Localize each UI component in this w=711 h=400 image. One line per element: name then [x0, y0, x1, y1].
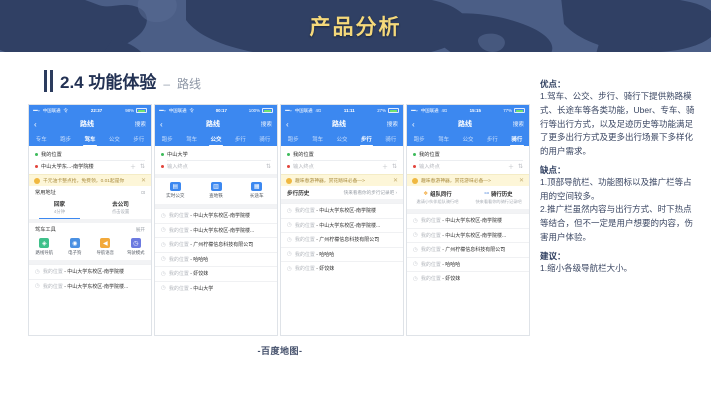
history-from: 我的位置 [421, 262, 441, 268]
clock-history-icon: ◷ [287, 208, 292, 214]
signal-dots-icon: ••••∘ [159, 108, 166, 114]
table-row[interactable]: ◷ 我的位置 - 虾饺妹 [407, 271, 529, 286]
feature-sub: 邀请小伙伴组队骑行吧 [417, 199, 459, 205]
history-from: 我的位置 [169, 228, 189, 234]
tab-jiache[interactable]: 驾车 [431, 132, 455, 146]
carrier-label: 中国联通 [169, 108, 187, 114]
table-row[interactable]: ◷ 我的位置 - 中山大学东校区-南学院楼... [29, 279, 151, 294]
suggestions-heading: 建议： [540, 250, 700, 262]
cons-heading: 缺点： [540, 164, 700, 176]
tab-jiache[interactable]: 驾车 [78, 132, 102, 146]
history-from: 我的位置 [421, 233, 441, 239]
history-from: 我的位置 [169, 286, 189, 292]
quick-address-header: 常用地址 ⊡ [29, 186, 151, 198]
wifi-icon: 令 [189, 108, 193, 114]
promo-text: 趣味春游神器，赏花游味必备—> [421, 177, 516, 184]
route-search-card: 我的位置 中山大学东...-南学院楼 ＋ ⇅ [29, 146, 151, 174]
status-bar: ••••∘ 中国联通 令 22:37 98% [29, 105, 151, 116]
clock-history-icon: ◷ [413, 232, 418, 238]
history-to: 哈哈哈 [319, 252, 334, 258]
navigation-icon: ◈ [39, 238, 49, 248]
tab-gongjiao[interactable]: 公交 [102, 132, 126, 146]
end-point-row[interactable]: 输入终点 ＋ ⇅ [287, 161, 397, 172]
feature-sub: 快来看看你的骑行记录吧 [475, 199, 521, 205]
history-to: 中山大学东校区-南学院楼 [319, 208, 376, 214]
section-heading: 2.4 功能体验 – 路线 [44, 68, 201, 93]
tab-gongjiao[interactable]: 公交 [330, 132, 354, 146]
route-search-card: 我的位置 输入终点 ＋ ⇅ [407, 146, 529, 174]
signal-dots-icon: ••••∘ [285, 108, 292, 114]
history-from: 我的位置 [295, 266, 315, 272]
status-right-group: 27% [377, 108, 399, 113]
table-row[interactable]: ◷ 我的位置 - 中山大学东校区-南学院楼... [407, 228, 529, 243]
table-row[interactable]: ◷ 我的位置 - 虾饺妹 [155, 266, 277, 281]
search-action-icons: ⇅ [266, 163, 271, 170]
table-row[interactable]: ◷ 我的位置 - 哈哈哈 [407, 257, 529, 272]
clock-history-icon: ◷ [35, 283, 40, 289]
clock-history-icon: ◷ [161, 285, 166, 291]
start-point-row[interactable]: 我的位置 [413, 149, 523, 160]
tab-jiache[interactable]: 驾车 [179, 132, 203, 146]
status-bar: ••••∘ 中国联通 4G 11:11 27% [281, 105, 403, 116]
battery-icon [262, 108, 273, 113]
tab-jiache[interactable]: 驾车 [305, 132, 329, 146]
cons-item-1: 1.顶部导航栏、功能图标以及推广栏等占用的空间较多。 [540, 176, 700, 204]
swap-icon[interactable]: ⇅ [392, 163, 397, 170]
coach-icon: ▦ [251, 182, 262, 191]
tool-route-navigation[interactable]: ◈ 路线导航 [29, 238, 60, 256]
carrier-label: 中国联通 [295, 108, 313, 114]
clock-history-icon: ◷ [161, 256, 166, 262]
table-row[interactable]: ◷ 我的位置 - 中山大学东校区-南学院楼 [407, 213, 529, 228]
phone-screenshot-row: ••••∘ 中国联通 令 22:37 98% ‹ 路线 搜索 专车 跑步 驾车 … [28, 104, 530, 336]
slide-root: 产品分析 2.4 功能体验 – 路线 ••••∘ 中国联通 令 22:37 98… [0, 0, 711, 400]
clock-label: 00:17 [197, 108, 246, 113]
nav-bar: ‹ 路线 搜索 [281, 116, 403, 132]
history-text: 我的位置 - 中山大学东校区-南学院楼 [421, 217, 502, 224]
home-sub: 4分钟 [29, 209, 90, 215]
table-row[interactable]: ◷ 我的位置 - 哈哈哈 [155, 252, 277, 267]
start-dot-icon [413, 153, 416, 156]
status-right-group: 98% [125, 108, 147, 113]
radar-icon: ◉ [70, 238, 80, 248]
route-history-list: ◷ 我的位置 - 中山大学东校区-南学院楼 ◷ 我的位置 - 中山大学东校区-南… [155, 208, 277, 335]
title-bars-icon [44, 70, 53, 92]
driving-tools-title: 驾车工具 [35, 226, 56, 233]
battery-percent-label: 100% [249, 108, 260, 113]
battery-percent-label: 77% [503, 108, 512, 113]
transport-tab-bar: 跑步 驾车 公交 步行 骑行 [281, 132, 403, 146]
phone-screenshot-2: ••••∘ 中国联通 令 00:17 100% ‹ 路线 搜索 跑步 驾车 公交… [154, 104, 278, 336]
transport-tab-bar: 跑步 驾车 公交 步行 骑行 [155, 132, 277, 146]
expand-button[interactable]: 展开 [136, 227, 145, 233]
end-dot-icon [413, 165, 416, 168]
promo-banner[interactable]: 千元油卡整点抢，免费领，0.01起是你 ✕ [29, 174, 151, 186]
search-button[interactable]: 搜索 [124, 120, 146, 128]
back-button[interactable]: ‹ [412, 120, 428, 129]
search-action-icons: ＋ ⇅ [130, 162, 145, 171]
route-history-list: ◷ 我的位置 - 中山大学东校区-南学院楼 ◷ 我的位置 - 中山大学东校区-南… [29, 264, 151, 335]
history-from: 我的位置 [295, 252, 315, 258]
carrier-label: 中国联通 [421, 108, 439, 114]
clock-history-icon: ◷ [287, 237, 292, 243]
end-point-row[interactable]: 中山大学东...-南学院楼 ＋ ⇅ [35, 161, 145, 172]
battery-icon [514, 108, 525, 113]
start-point-row[interactable]: 我的位置 [35, 149, 145, 160]
tool-label: 驾驶模式 [127, 250, 145, 256]
tool-driving-mode[interactable]: ◷ 驾驶模式 [121, 238, 152, 256]
add-waypoint-icon[interactable]: ＋ [508, 162, 514, 171]
promo-text: 千元油卡整点抢，免费领，0.01起是你 [43, 177, 138, 184]
table-row[interactable]: ◷ 我的位置 - 广州柠檬信息科技有限公司 [155, 237, 277, 252]
history-from: 我的位置 [421, 276, 441, 282]
battery-icon [136, 108, 147, 113]
clock-history-icon: ◷ [161, 227, 166, 233]
end-point-row[interactable]: 输入终点 ⇅ [161, 161, 271, 172]
end-input[interactable]: 输入终点 [419, 163, 505, 170]
signal-dots-icon: ••••∘ [411, 108, 418, 114]
transport-tab-bar: 专车 跑步 驾车 公交 步行 [29, 132, 151, 146]
tab-qixing[interactable]: 骑行 [505, 132, 529, 146]
table-row[interactable]: ◷ 我的位置 - 中山大学东校区-南学院楼 [29, 264, 151, 279]
table-row[interactable]: ◷ 我的位置 - 中山大学东校区-南学院楼... [281, 218, 403, 233]
tab-paobu[interactable]: 跑步 [53, 132, 77, 146]
page-title: 路线 [302, 119, 376, 129]
clock-history-icon: ◷ [161, 213, 166, 219]
history-from: 我的位置 [295, 237, 315, 243]
history-to: 中山大学东校区-南学院楼... [193, 228, 254, 234]
history-text: 我的位置 - 中山大学东校区-南学院楼 [169, 212, 250, 219]
history-from: 我的位置 [169, 271, 189, 277]
tab-buxing[interactable]: 步行 [480, 132, 504, 146]
start-point-row[interactable]: 我的位置 [287, 149, 397, 160]
swap-icon[interactable]: ⇅ [266, 163, 271, 170]
history-to: 中山大学东校区-南学院楼... [67, 284, 128, 290]
table-row[interactable]: ◷ 我的位置 - 中山大学东校区-南学院楼... [155, 223, 277, 238]
nav-bar: ‹ 路线 搜索 [407, 116, 529, 132]
history-text: 我的位置 - 哈哈哈 [421, 261, 460, 268]
phone-screenshot-4: ••••∘ 中国联通 4G 15:15 77% ‹ 路线 搜索 跑步 驾车 公交… [406, 104, 530, 336]
clock-history-icon: ◷ [161, 271, 166, 277]
tab-gongjiao[interactable]: 公交 [456, 132, 480, 146]
history-to: 虾饺妹 [445, 276, 460, 282]
history-text: 我的位置 - 中山大学东校区-南学院楼... [295, 222, 380, 229]
shortcut-label: 实时公交 [166, 193, 184, 199]
tab-buxing[interactable]: 步行 [354, 132, 378, 146]
history-to: 中山大学东校区-南学院楼 [67, 269, 124, 275]
history-text: 我的位置 - 广州柠檬信息科技有限公司 [169, 241, 253, 248]
history-to: 广州柠檬信息科技有限公司 [445, 247, 505, 253]
history-from: 我的位置 [43, 269, 63, 275]
search-action-icons: ＋ ⇅ [382, 162, 397, 171]
phone-screenshot-3: ••••∘ 中国联通 4G 11:11 27% ‹ 路线 搜索 跑步 驾车 公交… [280, 104, 404, 336]
table-row[interactable]: ◷ 我的位置 - 中山大学东校区-南学院楼 [281, 203, 403, 218]
history-from: 我的位置 [169, 242, 189, 248]
company-sub: 点击设置 [90, 209, 151, 215]
history-text: 我的位置 - 虾饺妹 [295, 265, 334, 272]
walk-history-link[interactable]: 快来看看你的步行记录吧 › [344, 190, 397, 196]
history-text: 我的位置 - 哈哈哈 [295, 251, 334, 258]
tab-paobu[interactable]: 跑步 [281, 132, 305, 146]
add-waypoint-icon[interactable]: ＋ [382, 162, 388, 171]
cons-item-2: 2.推广栏虽然内容与出行方式、时下热点等结合，但不一定是用户想要的内容，伤害用户… [540, 203, 700, 244]
table-row[interactable]: ◷ 我的位置 - 中山大学东校区-南学院楼 [155, 208, 277, 223]
start-input[interactable]: 我的位置 [293, 151, 397, 158]
table-row[interactable]: ◷ 我的位置 - 广州柠檬信息科技有限公司 [281, 232, 403, 247]
slide-title: 产品分析 [0, 0, 711, 52]
history-text: 我的位置 - 广州柠檬信息科技有限公司 [421, 246, 505, 253]
end-input[interactable]: 输入终点 [293, 163, 379, 170]
start-dot-icon [161, 153, 164, 156]
end-input[interactable]: 输入终点 [167, 163, 263, 170]
nav-bar: ‹ 路线 搜索 [29, 116, 151, 132]
team-icon: ❖ [423, 191, 428, 197]
search-button[interactable]: 搜索 [376, 120, 398, 128]
history-to: 中山大学东校区-南学院楼 [445, 218, 502, 224]
feature-title: 组队同行 [430, 190, 452, 198]
promo-banner[interactable]: 趣味春游神器，赏花踏味必备—> ✕ [281, 174, 403, 186]
feature-title-row: ❖ 组队同行 [423, 190, 451, 198]
history-text: 我的位置 - 中山大学东校区-南学院楼... [169, 227, 254, 234]
close-icon[interactable]: ✕ [141, 177, 146, 184]
history-from: 我的位置 [295, 208, 315, 214]
tab-buxing[interactable]: 步行 [127, 132, 151, 146]
carrier-label: 中国联通 [43, 108, 61, 114]
history-text: 我的位置 - 中山大学东校区-南学院楼 [43, 268, 124, 275]
history-to: 中山大学东校区-南学院楼 [193, 213, 250, 219]
start-input[interactable]: 中山大学 [167, 151, 271, 158]
search-button[interactable]: 搜索 [502, 120, 524, 128]
promo-icon [34, 178, 40, 184]
slide-header-banner: 产品分析 [0, 0, 711, 52]
history-to: 虾饺妹 [193, 271, 208, 277]
feature-title: 骑行历史 [491, 190, 513, 198]
history-to: 哈哈哈 [445, 262, 460, 268]
wifi-icon: 令 [63, 108, 67, 114]
status-right-group: 100% [249, 108, 273, 113]
promo-banner[interactable]: 趣味春游神器，赏花游味必备—> ✕ [407, 174, 529, 186]
speaker-icon: ◀ [100, 238, 110, 248]
history-text: 我的位置 - 哈哈哈 [169, 256, 208, 263]
clock-history-icon: ◷ [413, 261, 418, 267]
network-type-label: 4G [315, 108, 321, 113]
transport-tab-bar: 跑步 驾车 公交 步行 骑行 [407, 132, 529, 146]
history-from: 我的位置 [43, 284, 63, 290]
close-icon[interactable]: ✕ [393, 177, 398, 184]
promo-icon [286, 178, 292, 184]
suggestion-item-1: 1.缩小各级导航栏大小。 [540, 262, 700, 276]
end-dot-icon [161, 165, 164, 168]
end-point-row[interactable]: 输入终点 ＋ ⇅ [413, 161, 523, 172]
clock-history-icon: ◷ [413, 247, 418, 253]
history-to: 中山大学 [193, 286, 213, 292]
search-button[interactable]: 搜索 [250, 120, 272, 128]
search-action-icons: ＋ ⇅ [508, 162, 523, 171]
status-right-group: 77% [503, 108, 525, 113]
history-to: 广州柠檬信息科技有限公司 [193, 242, 253, 248]
route-search-card: 我的位置 输入终点 ＋ ⇅ [281, 146, 403, 174]
route-search-card: 中山大学 输入终点 ⇅ [155, 146, 277, 174]
battery-icon [388, 108, 399, 113]
end-dot-icon [35, 165, 38, 168]
swap-icon[interactable]: ⇅ [140, 163, 145, 170]
tab-zhuanche[interactable]: 专车 [29, 132, 53, 146]
shortcut-coach[interactable]: ▦ 长途车 [236, 182, 277, 199]
home-label: 回家 [29, 200, 90, 208]
section-dash: – [163, 77, 170, 91]
driving-tools-header: 驾车工具 展开 [29, 223, 151, 235]
history-from: 我的位置 [169, 257, 189, 263]
battery-percent-label: 98% [125, 108, 134, 113]
page-title: 路线 [428, 119, 502, 129]
history-text: 我的位置 - 中山大学 [169, 285, 213, 292]
tab-buxing[interactable]: 步行 [228, 132, 252, 146]
close-icon[interactable]: ✕ [519, 177, 524, 184]
clock-icon: ◷ [131, 238, 141, 248]
phone-screenshot-1: ••••∘ 中国联通 令 22:37 98% ‹ 路线 搜索 专车 跑步 驾车 … [28, 104, 152, 336]
history-text: 我的位置 - 广州柠檬信息科技有限公司 [295, 236, 379, 243]
tab-qixing[interactable]: 骑行 [253, 132, 277, 146]
history-from: 我的位置 [421, 247, 441, 253]
history-to: 广州柠檬信息科技有限公司 [319, 237, 379, 243]
start-point-row[interactable]: 中山大学 [161, 149, 271, 160]
swap-icon[interactable]: ⇅ [518, 163, 523, 170]
end-input[interactable]: 中山大学东...-南学院楼 [41, 163, 127, 170]
nav-bar: ‹ 路线 搜索 [155, 116, 277, 132]
status-bar: ••••∘ 中国联通 令 00:17 100% [155, 105, 277, 116]
tool-navigation-voice[interactable]: ◀ 导航语音 [90, 238, 121, 256]
analysis-panel: 优点： 1.驾车、公交、步行、骑行下提供熟路模式、长途车等各类功能，Uber、专… [540, 78, 700, 275]
quick-address-home[interactable]: 回家 4分钟 [29, 200, 90, 215]
section-number-label: 2.4 功能体验 [60, 68, 156, 93]
table-row[interactable]: ◷ 我的位置 - 中山大学 [155, 281, 277, 296]
clock-history-icon: ◷ [413, 276, 418, 282]
feature-ride-history[interactable]: ⚯ 骑行历史 快来看看你的骑行记录吧 [468, 190, 529, 205]
shortcut-realtime-bus[interactable]: ▤ 实时公交 [155, 182, 196, 199]
history-to: 中山大学东校区-南学院楼... [319, 223, 380, 229]
back-button[interactable]: ‹ [160, 120, 176, 129]
history-from: 我的位置 [295, 223, 315, 229]
clock-label: 22:37 [71, 108, 122, 113]
cycling-feature-row: ❖ 组队同行 邀请小伙伴组队骑行吧 ⚯ 骑行历史 快来看看你的骑行记录吧 [407, 186, 529, 209]
start-dot-icon [35, 153, 38, 156]
tab-gongjiao[interactable]: 公交 [204, 132, 228, 146]
tab-paobu[interactable]: 跑步 [155, 132, 179, 146]
quick-address-title: 常用地址 [35, 189, 56, 196]
driving-tools-grid: ◈ 路线导航 ◉ 电子狗 ◀ 导航语音 ◷ 驾驶模式 [29, 235, 151, 260]
table-row[interactable]: ◷ 我的位置 - 广州柠檬信息科技有限公司 [407, 242, 529, 257]
table-row[interactable]: ◷ 我的位置 - 虾饺妹 [281, 261, 403, 276]
history-to: 中山大学东校区-南学院楼... [445, 233, 506, 239]
clock-label: 15:15 [450, 108, 500, 113]
history-text: 我的位置 - 中山大学东校区-南学院楼 [295, 207, 376, 214]
active-address-underline [39, 218, 80, 219]
end-dot-icon [287, 165, 290, 168]
tool-label: 电子狗 [68, 250, 81, 256]
status-bar: ••••∘ 中国联通 4G 15:15 77% [407, 105, 529, 116]
clock-history-icon: ◷ [287, 222, 292, 228]
clock-history-icon: ◷ [287, 266, 292, 272]
history-to: 哈哈哈 [193, 257, 208, 263]
history-text: 我的位置 - 虾饺妹 [421, 275, 460, 282]
clock-history-icon: ◷ [413, 218, 418, 224]
tool-radar-detector[interactable]: ◉ 电子狗 [60, 238, 91, 256]
pros-heading: 优点： [540, 78, 700, 90]
tab-qixing[interactable]: 骑行 [379, 132, 403, 146]
tool-label: 导航语音 [96, 250, 114, 256]
tool-label: 路线导航 [35, 250, 53, 256]
history-from: 我的位置 [421, 218, 441, 224]
table-row[interactable]: ◷ 我的位置 - 哈哈哈 [281, 247, 403, 262]
history-text: 我的位置 - 虾饺妹 [169, 270, 208, 277]
clock-history-icon: ◷ [161, 242, 166, 248]
shortcut-label: 长途车 [250, 193, 264, 199]
company-label: 去公司 [90, 200, 151, 208]
back-button[interactable]: ‹ [34, 120, 50, 129]
page-title: 路线 [176, 119, 250, 129]
promo-icon [412, 178, 418, 184]
walk-history-header[interactable]: 步行历史 快来看看你的步行记录吧 › [281, 186, 403, 199]
start-dot-icon [287, 153, 290, 156]
start-input[interactable]: 我的位置 [419, 151, 523, 158]
bike-icon: ⚯ [484, 191, 489, 197]
history-text: 我的位置 - 中山大学东校区-南学院楼... [421, 232, 506, 239]
clock-history-icon: ◷ [287, 251, 292, 257]
metro-icon: ▥ [211, 182, 222, 191]
route-history-list: ◷ 我的位置 - 中山大学东校区-南学院楼 ◷ 我的位置 - 中山大学东校区-南… [407, 213, 529, 335]
history-from: 我的位置 [169, 213, 189, 219]
start-input[interactable]: 我的位置 [41, 151, 145, 158]
add-waypoint-icon[interactable]: ＋ [130, 162, 136, 171]
network-type-label: 4G [441, 108, 447, 113]
feature-team-ride[interactable]: ❖ 组队同行 邀请小伙伴组队骑行吧 [407, 190, 468, 205]
figure-caption: -百度地图- [28, 344, 532, 357]
bus-icon: ▤ [170, 182, 181, 191]
battery-percent-label: 27% [377, 108, 386, 113]
promo-text: 趣味春游神器，赏花踏味必备—> [295, 177, 390, 184]
history-to: 虾饺妹 [319, 266, 334, 272]
shortcut-label: 查地铁 [209, 193, 223, 199]
feature-title-row: ⚯ 骑行历史 [484, 190, 512, 198]
page-title: 路线 [50, 119, 124, 129]
quick-address-company[interactable]: 去公司 点击设置 [90, 200, 151, 215]
clock-history-icon: ◷ [35, 269, 40, 275]
section-subtitle: 路线 [177, 75, 201, 92]
pros-item-1: 1.驾车、公交、步行、骑行下提供熟路模式、长途车等各类功能，Uber、专车、骑行… [540, 90, 700, 159]
transit-shortcut-row: ▤ 实时公交 ▥ 查地铁 ▦ 长途车 [155, 178, 277, 204]
walk-history-title: 步行历史 [287, 189, 309, 197]
tab-paobu[interactable]: 跑步 [407, 132, 431, 146]
route-history-list: ◷ 我的位置 - 中山大学东校区-南学院楼 ◷ 我的位置 - 中山大学东校区-南… [281, 203, 403, 335]
edit-icon[interactable]: ⊡ [141, 190, 145, 196]
history-text: 我的位置 - 中山大学东校区-南学院楼... [43, 283, 128, 290]
signal-dots-icon: ••••∘ [33, 108, 40, 114]
shortcut-metro[interactable]: ▥ 查地铁 [196, 182, 237, 199]
back-button[interactable]: ‹ [286, 120, 302, 129]
quick-address-row: 回家 4分钟 去公司 点击设置 [29, 198, 151, 219]
clock-label: 11:11 [324, 108, 374, 113]
